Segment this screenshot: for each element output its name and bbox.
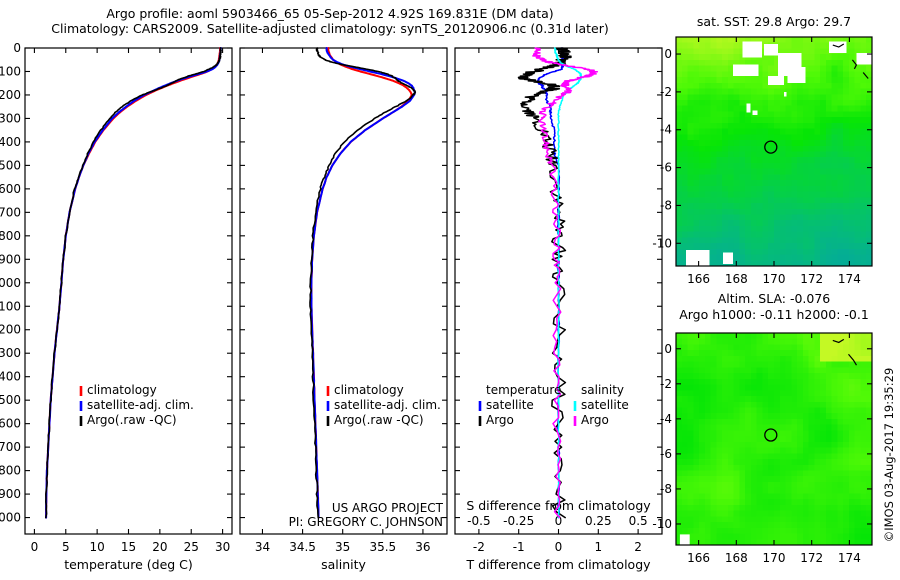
map-cell (786, 186, 792, 192)
map-cell (826, 442, 832, 448)
map-cell (809, 54, 815, 60)
map-cell (745, 203, 751, 209)
map-cell (705, 71, 711, 77)
map-cell (716, 174, 722, 180)
map-cell (814, 169, 820, 175)
map-cell (751, 362, 757, 368)
map-cell (786, 214, 792, 220)
map-cell (849, 83, 855, 89)
map-cell (716, 511, 722, 517)
map-cell (780, 442, 786, 448)
map-cell (826, 471, 832, 477)
map-cell (751, 339, 757, 345)
map-cell (768, 522, 774, 528)
map-cell (734, 419, 740, 425)
map-cell (809, 522, 815, 528)
map-cell (734, 226, 740, 232)
map-cell (786, 100, 792, 106)
map-cell (728, 373, 734, 379)
map-cell (722, 123, 728, 129)
map-cell (751, 367, 757, 373)
map-cell (843, 100, 849, 106)
map-cell (751, 77, 757, 83)
temperature-tick-label: 10 (89, 540, 104, 554)
map-cell (814, 48, 820, 54)
map-cell (682, 499, 688, 505)
map-cell (739, 488, 745, 494)
map-cell (705, 425, 711, 431)
map-cell (722, 373, 728, 379)
map-cell (762, 169, 768, 175)
map-cell (676, 169, 682, 175)
map-cell (814, 152, 820, 158)
map-cell (699, 243, 705, 249)
map-cell (820, 379, 826, 385)
map-cell (855, 203, 861, 209)
map-cell (791, 333, 797, 339)
map-cell (688, 117, 694, 123)
map-cell (780, 344, 786, 350)
sst-map: 1661681701721740-2-4-6-8-10 (652, 37, 872, 286)
map-cell (786, 226, 792, 232)
map-cell (791, 226, 797, 232)
map-cell (722, 419, 728, 425)
map-cell (682, 430, 688, 436)
map-cell (722, 453, 728, 459)
map-cell (682, 333, 688, 339)
map-cell (699, 385, 705, 391)
map-cell (757, 83, 763, 89)
map-cell (751, 232, 757, 238)
map-cell (682, 453, 688, 459)
map-cell (820, 60, 826, 66)
map-cell (711, 465, 717, 471)
map-cell (676, 339, 682, 345)
map-cell (849, 134, 855, 140)
map-cell (757, 134, 763, 140)
map-cell (849, 89, 855, 95)
map-cell (768, 186, 774, 192)
map-cell (711, 111, 717, 117)
map-cell (711, 220, 717, 226)
map-cell (820, 249, 826, 255)
map-cell (682, 77, 688, 83)
map-cell (676, 499, 682, 505)
map-cell (699, 350, 705, 356)
map-cell (780, 174, 786, 180)
map-cell (705, 48, 711, 54)
map-cell (797, 152, 803, 158)
map-cell (786, 522, 792, 528)
map-cell (849, 243, 855, 249)
map-cell (837, 476, 843, 482)
map-cell (803, 220, 809, 226)
map-cell (751, 146, 757, 152)
map-cell (757, 367, 763, 373)
map-cell (820, 140, 826, 146)
map-cell (843, 402, 849, 408)
map-cell (814, 129, 820, 135)
map-cell (843, 197, 849, 203)
map-cell (803, 367, 809, 373)
map-cell (682, 465, 688, 471)
map-cell (820, 197, 826, 203)
map-cell (705, 516, 711, 522)
map-cell (791, 534, 797, 540)
map-cell (803, 83, 809, 89)
map-cell (711, 522, 717, 528)
map-cell (699, 214, 705, 220)
map-cell (860, 448, 866, 454)
map-cell (688, 482, 694, 488)
map-cell (843, 71, 849, 77)
map-cell (814, 379, 820, 385)
map-cell (762, 123, 768, 129)
map-cell (786, 180, 792, 186)
map-cell (757, 453, 763, 459)
map-cell (786, 339, 792, 345)
map-cell (716, 214, 722, 220)
map-cell (728, 169, 734, 175)
map-cell (676, 243, 682, 249)
map-cell (837, 367, 843, 373)
map-cell (693, 186, 699, 192)
map-cell (860, 436, 866, 442)
map-cell (791, 493, 797, 499)
depth-tick-label: 600 (0, 182, 21, 196)
map-cell (751, 373, 757, 379)
map-cell (739, 111, 745, 117)
map-cell (849, 140, 855, 146)
map-cell (699, 54, 705, 60)
map-cell (855, 214, 861, 220)
map-cell (774, 453, 780, 459)
map-cell (837, 534, 843, 540)
map-cell (820, 333, 826, 339)
map-cell (688, 339, 694, 345)
map-cell (803, 339, 809, 345)
map-cell (757, 396, 763, 402)
map-cell (716, 237, 722, 243)
map-cell (786, 106, 792, 112)
map-cell (751, 511, 757, 517)
map-cell (745, 448, 751, 454)
depth-tick-label: 1500 (0, 393, 21, 407)
map-cell (814, 255, 820, 261)
map-cell (849, 396, 855, 402)
map-cell (860, 350, 866, 356)
map-cell (860, 237, 866, 243)
map-cell (843, 488, 849, 494)
map-cell (728, 140, 734, 146)
map-cell (728, 465, 734, 471)
map-cell (688, 214, 694, 220)
map-cell (786, 482, 792, 488)
map-cell (682, 482, 688, 488)
map-cell (699, 407, 705, 413)
map-cell (699, 209, 705, 215)
map-cell (860, 459, 866, 465)
map-cell (699, 430, 705, 436)
map-cell (745, 425, 751, 431)
map-cell (855, 43, 861, 49)
map-cell (826, 77, 832, 83)
map-cell (803, 100, 809, 106)
map-cell (699, 197, 705, 203)
map-cell (791, 396, 797, 402)
map-cell (728, 488, 734, 494)
map-cell (809, 106, 815, 112)
map-cell (809, 243, 815, 249)
sla-map-title-line-2: Argo h1000: -0.11 h2000: -0.1 (679, 307, 869, 322)
map-cell (739, 430, 745, 436)
map-cell (768, 220, 774, 226)
map-cell (745, 169, 751, 175)
map-cell (803, 448, 809, 454)
map-cell (843, 174, 849, 180)
map-cell (711, 390, 717, 396)
map-cell (722, 157, 728, 163)
map-cell (705, 77, 711, 83)
map-cell (774, 209, 780, 215)
map-cell (803, 436, 809, 442)
map-cell (826, 356, 832, 362)
map-cell (809, 43, 815, 49)
map-cell (803, 94, 809, 100)
map-cell (786, 407, 792, 413)
temperature-axis-label: temperature (deg C) (64, 557, 193, 572)
map-cell (849, 157, 855, 163)
map-cell (820, 226, 826, 232)
map-cell (705, 407, 711, 413)
map-cell (682, 71, 688, 77)
map-cell (780, 214, 786, 220)
map-cell (728, 459, 734, 465)
salinity-curve (311, 48, 415, 518)
map-cell (832, 453, 838, 459)
map-cell (705, 396, 711, 402)
map-cell (739, 140, 745, 146)
map-cell (745, 243, 751, 249)
map-cell (745, 77, 751, 83)
map-cell (803, 214, 809, 220)
map-cell (757, 442, 763, 448)
map-cell (682, 488, 688, 494)
map-cell (682, 471, 688, 477)
map-cell (762, 350, 768, 356)
map-cell (711, 71, 717, 77)
map-cell (705, 111, 711, 117)
legend-label: satellite (486, 398, 534, 412)
map-cell (728, 476, 734, 482)
map-cell (774, 442, 780, 448)
map-cell (849, 209, 855, 215)
map-cell (780, 197, 786, 203)
map-cell (757, 534, 763, 540)
map-cell (734, 174, 740, 180)
map-cell (780, 220, 786, 226)
map-cell (768, 516, 774, 522)
map-cell (860, 511, 866, 517)
map-cell (832, 111, 838, 117)
map-cell (855, 174, 861, 180)
map-cell (791, 528, 797, 534)
map-cell (739, 385, 745, 391)
map-cell (693, 232, 699, 238)
map-cell (745, 436, 751, 442)
map-cell (780, 390, 786, 396)
map-cell (688, 499, 694, 505)
map-cell (705, 146, 711, 152)
map-cell (751, 436, 757, 442)
map-cell (757, 425, 763, 431)
map-cell (774, 362, 780, 368)
map-cell (780, 402, 786, 408)
map-cell (814, 488, 820, 494)
map-cell (849, 373, 855, 379)
map-cell (768, 413, 774, 419)
map-cell (722, 169, 728, 175)
map-cell (688, 89, 694, 95)
map-cell (716, 146, 722, 152)
map-cell (797, 379, 803, 385)
map-cell (728, 379, 734, 385)
map-cell (693, 379, 699, 385)
map-cell (716, 459, 722, 465)
map-cell (797, 528, 803, 534)
map-cell (682, 425, 688, 431)
map-cell (745, 350, 751, 356)
map-cell (826, 180, 832, 186)
map-cell (820, 77, 826, 83)
map-cell (797, 482, 803, 488)
map-cell (745, 180, 751, 186)
legend-label: satellite-adj. clim. (334, 398, 441, 412)
map-cell (728, 111, 734, 117)
map-cell (693, 396, 699, 402)
map-cell (797, 425, 803, 431)
map-cell (762, 339, 768, 345)
map-cell (843, 140, 849, 146)
map-cell (797, 192, 803, 198)
map-cell (832, 522, 838, 528)
map-cell (705, 83, 711, 89)
map-cell (751, 237, 757, 243)
map-cell (745, 129, 751, 135)
map-cell (751, 442, 757, 448)
map-cell (786, 465, 792, 471)
map-cell (860, 430, 866, 436)
map-cell (757, 209, 763, 215)
map-cell (739, 476, 745, 482)
map-cell (832, 140, 838, 146)
map-cell (745, 356, 751, 362)
map-cell (751, 344, 757, 350)
map-cell (739, 220, 745, 226)
depth-tick-label: 1200 (0, 323, 21, 337)
map-cell (803, 111, 809, 117)
map-cell (860, 476, 866, 482)
map-cell (797, 134, 803, 140)
map-cell (768, 146, 774, 152)
map-cell (774, 192, 780, 198)
map-longitude-label: 168 (725, 272, 748, 286)
map-cell (843, 83, 849, 89)
map-cell (860, 528, 866, 534)
map-cell (728, 385, 734, 391)
map-cell (849, 203, 855, 209)
map-cell (843, 89, 849, 95)
map-cell (716, 482, 722, 488)
map-cell (797, 373, 803, 379)
map-cell (762, 373, 768, 379)
map-cell (734, 111, 740, 117)
map-cell (814, 362, 820, 368)
map-cell (716, 129, 722, 135)
map-cell (757, 111, 763, 117)
map-cell (855, 71, 861, 77)
map-cell (768, 339, 774, 345)
map-cell (734, 356, 740, 362)
map-cell (786, 436, 792, 442)
map-cell (682, 157, 688, 163)
map-cell (699, 356, 705, 362)
map-cell (734, 157, 740, 163)
map-cell (739, 214, 745, 220)
map-cell (722, 379, 728, 385)
map-cell (791, 106, 797, 112)
map-cell (786, 169, 792, 175)
map-cell (705, 192, 711, 198)
map-cell (682, 140, 688, 146)
map-cell (693, 134, 699, 140)
map-cell (774, 356, 780, 362)
map-cell (751, 134, 757, 140)
map-cell (820, 499, 826, 505)
map-cell (739, 436, 745, 442)
map-cell (820, 356, 826, 362)
map-cell (791, 471, 797, 477)
map-cell (734, 379, 740, 385)
map-cell (722, 237, 728, 243)
map-cell (843, 66, 849, 72)
map-cell (849, 505, 855, 511)
map-cell (751, 522, 757, 528)
map-cell (786, 356, 792, 362)
map-cell (837, 209, 843, 215)
map-cell (814, 100, 820, 106)
map-cell (768, 476, 774, 482)
map-cell (797, 249, 803, 255)
depth-tick-label: 1100 (0, 299, 21, 313)
map-cell (705, 534, 711, 540)
map-cell (705, 94, 711, 100)
map-cell (780, 226, 786, 232)
map-cell (826, 174, 832, 180)
map-cell (711, 505, 717, 511)
map-cell (791, 488, 797, 494)
map-cell (814, 209, 820, 215)
map-cell (734, 396, 740, 402)
map-cell (837, 111, 843, 117)
map-cell (814, 453, 820, 459)
map-cell (734, 373, 740, 379)
map-cell (837, 436, 843, 442)
map-cell (716, 77, 722, 83)
map-cell (814, 197, 820, 203)
map-cell (739, 169, 745, 175)
map-cell (832, 436, 838, 442)
